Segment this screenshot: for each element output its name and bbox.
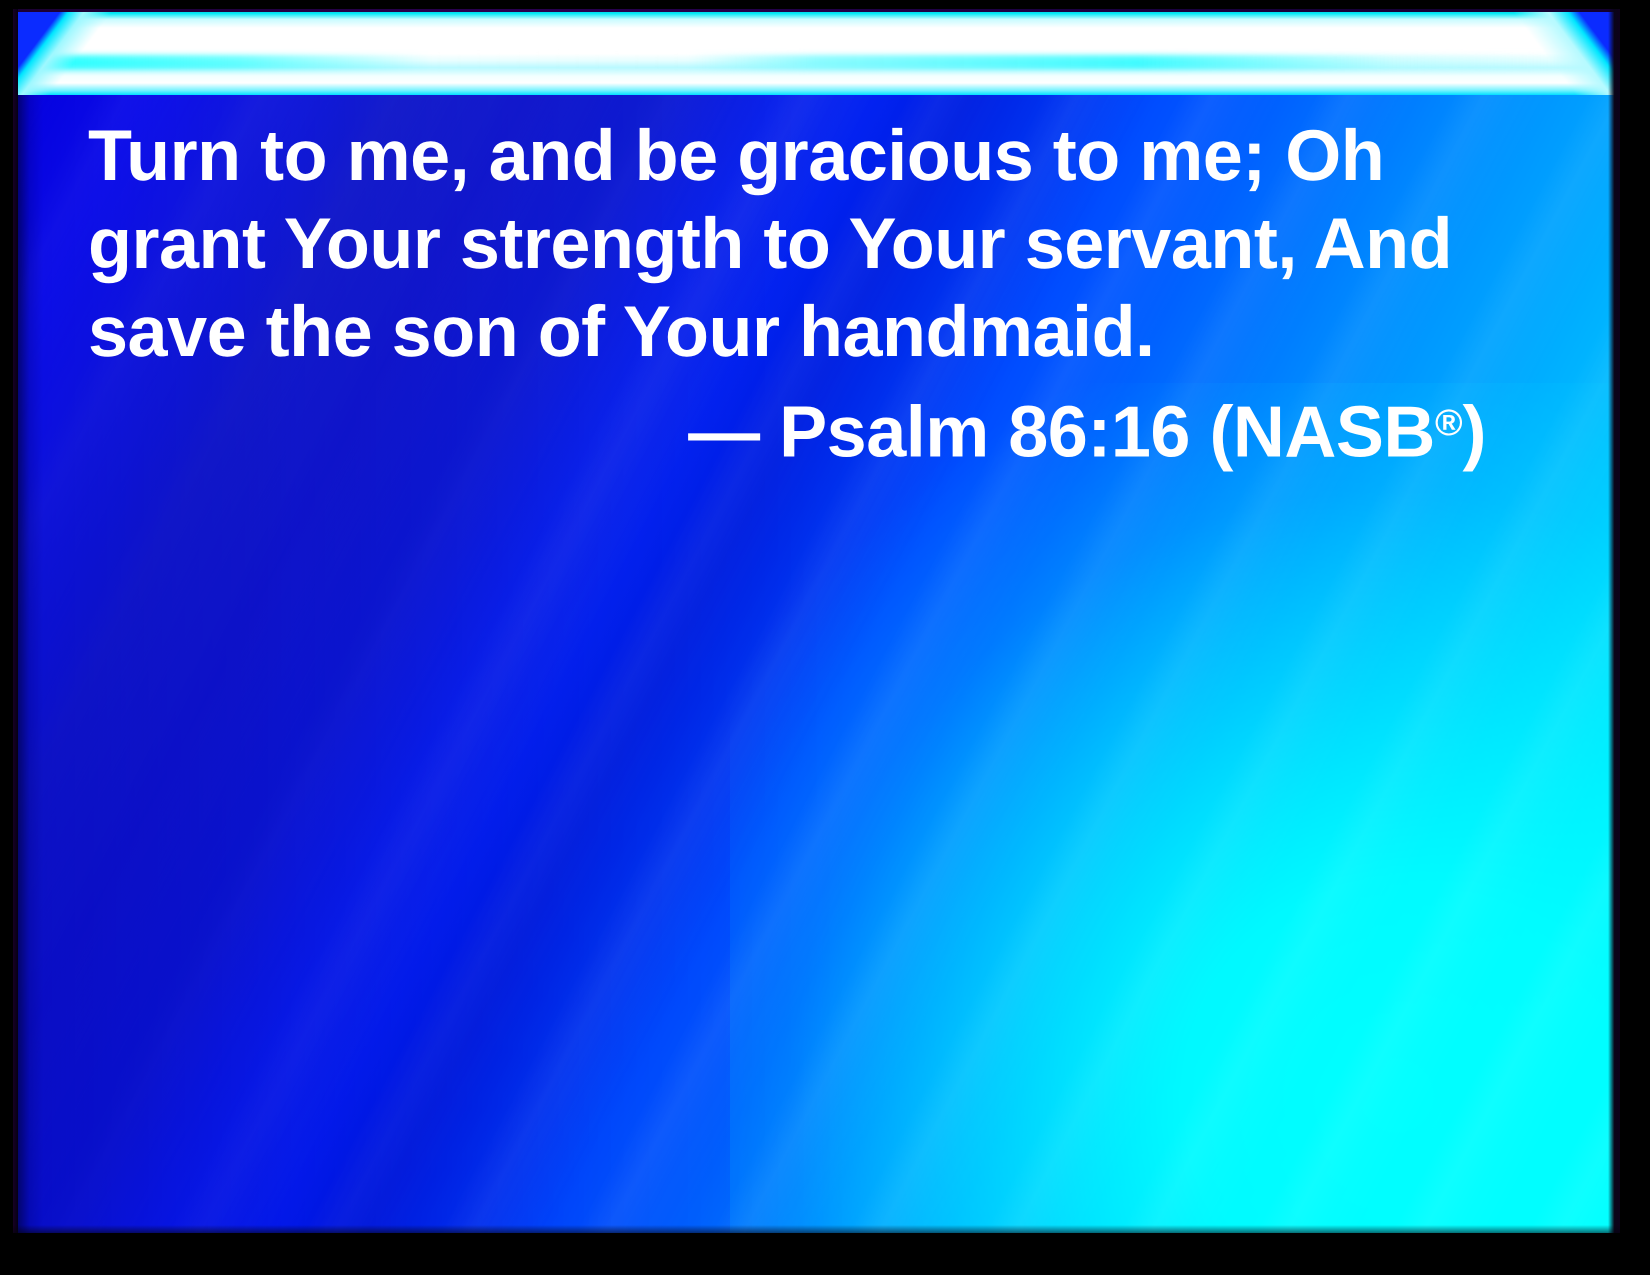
banner-top-rule <box>13 9 1620 12</box>
glow-banner <box>13 9 1620 95</box>
verse-line-3: save the son of Your handmaid. <box>88 288 1508 376</box>
verse-text-block: Turn to me, and be gracious to me; Oh gr… <box>88 112 1508 477</box>
banner-bevel-right <box>1490 9 1620 95</box>
banner-bevel-left <box>13 9 123 95</box>
inner-rim-right <box>1608 0 1624 1275</box>
frame-border-top <box>0 0 1650 9</box>
verse-attribution: — Psalm 86:16 (NASB®) <box>88 376 1508 477</box>
attribution-reference: Psalm 86:16 <box>779 393 1190 473</box>
banner-lens-streak <box>13 55 1620 69</box>
cyan-corner-glow <box>730 383 1620 1233</box>
attribution-translation-open: (NASB <box>1209 393 1435 473</box>
inner-rim-bottom <box>0 1225 1650 1239</box>
attribution-em-dash: — <box>688 393 760 473</box>
registered-trademark-icon: ® <box>1435 401 1463 443</box>
frame-border-right <box>1620 0 1650 1275</box>
verse-line-2: grant Your strength to Your servant, And <box>88 200 1508 288</box>
banner-gradient <box>13 9 1620 95</box>
verse-line-1: Turn to me, and be gracious to me; Oh <box>88 112 1508 200</box>
inner-rim-left <box>8 0 18 1275</box>
verse-slide: Turn to me, and be gracious to me; Oh gr… <box>0 0 1650 1275</box>
frame-border-bottom <box>0 1233 1650 1275</box>
attribution-translation-close: ) <box>1463 393 1486 473</box>
